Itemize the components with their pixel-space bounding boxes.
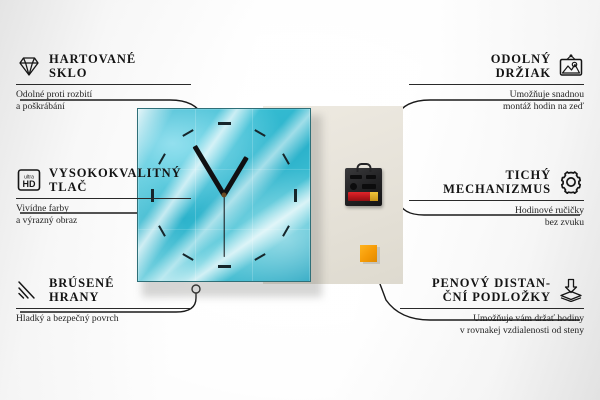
feature-divider bbox=[400, 308, 584, 309]
feature-sub-line1: Hodinové ručičky bbox=[409, 205, 584, 217]
feature-foam-spacers: PENOVÝ DISTAN- ČNÍ PODLOŽKY Umožňuje vám… bbox=[400, 276, 584, 336]
feature-title-line1: VYSOKOKVALITNÝ bbox=[49, 166, 182, 180]
clock-tick bbox=[218, 265, 231, 268]
feature-sub-line2: v rovnakej vzdialenosti od steny bbox=[400, 325, 584, 337]
movement-slot bbox=[366, 175, 376, 179]
feature-divider bbox=[409, 200, 584, 201]
brushed-edges-icon bbox=[16, 278, 42, 302]
feature-divider bbox=[16, 198, 191, 199]
foam-distance-pad bbox=[360, 245, 377, 262]
feature-sub-line1: Vivídne farby bbox=[16, 203, 191, 215]
feature-sub-line2: bez zvuku bbox=[409, 217, 584, 229]
infographic-canvas: HARTOVANÉ SKLO Odolné proti rozbití a po… bbox=[0, 0, 600, 400]
feature-sub-line1: Umožňuje vám držať hodiny bbox=[400, 313, 584, 325]
feature-title-line2: HRANY bbox=[49, 290, 114, 304]
feature-title-line1: HARTOVANÉ bbox=[49, 52, 136, 66]
ultra-hd-bottom-label: HD bbox=[23, 179, 36, 189]
feature-sub-line2: a výrazný obraz bbox=[16, 215, 191, 227]
feature-title-line2: DRŽIAK bbox=[491, 66, 551, 80]
feature-divider bbox=[409, 84, 584, 85]
feature-title-line2: ČNÍ PODLOŽKY bbox=[432, 290, 551, 304]
feature-title-line2: TLAČ bbox=[49, 180, 182, 194]
feature-silent-mechanism: TICHÝ MECHANIZMUS Hodinové ručičky bez z… bbox=[409, 168, 584, 228]
feature-high-quality-print: ultra HD VYSOKOKVALITNÝ TLAČ Vivídne far… bbox=[16, 166, 191, 226]
diamond-icon bbox=[16, 54, 42, 78]
clock-tick bbox=[294, 189, 297, 202]
feature-sub-line1: Umožňuje snadnou bbox=[409, 89, 584, 101]
picture-hanger-icon bbox=[558, 54, 584, 78]
feature-durable-hanger: ODOLNÝ DRŽIAK Umožňuje snadnou montáž ho… bbox=[409, 52, 584, 112]
feature-title-line1: PENOVÝ DISTAN- bbox=[432, 276, 551, 290]
feature-divider bbox=[16, 84, 191, 85]
feature-title-line1: TICHÝ bbox=[443, 168, 551, 182]
feature-title-line1: ODOLNÝ bbox=[491, 52, 551, 66]
gear-icon bbox=[558, 170, 584, 194]
clock-movement-mechanism bbox=[345, 168, 382, 206]
aa-battery bbox=[348, 192, 378, 201]
feature-sub-line1: Odolné proti rozbití bbox=[16, 89, 191, 101]
clock-center-pivot bbox=[222, 193, 227, 198]
feature-sub-line2: a poškrábání bbox=[16, 101, 191, 113]
foam-pad-press-icon bbox=[558, 278, 584, 302]
feature-title-line1: BRÚSENÉ bbox=[49, 276, 114, 290]
feature-title-line2: MECHANIZMUS bbox=[443, 182, 551, 196]
ultra-hd-badge-icon: ultra HD bbox=[16, 168, 42, 192]
clock-tick bbox=[218, 122, 231, 125]
movement-slot bbox=[350, 175, 362, 179]
feature-brushed-edges: BRÚSENÉ HRANY Hladký a bezpečný povrch bbox=[16, 276, 191, 325]
feature-sub-line1: Hladký a bezpečný povrch bbox=[16, 313, 191, 325]
feature-title-line2: SKLO bbox=[49, 66, 136, 80]
movement-dial bbox=[350, 183, 357, 190]
feature-sub-line2: montáž hodin na zeď bbox=[409, 101, 584, 113]
feature-tempered-glass: HARTOVANÉ SKLO Odolné proti rozbití a po… bbox=[16, 52, 191, 112]
movement-slot bbox=[362, 184, 376, 189]
feature-divider bbox=[16, 308, 191, 309]
movement-hanger-hook bbox=[356, 163, 371, 172]
clock-second-hand bbox=[223, 195, 224, 257]
battery-terminal bbox=[370, 192, 378, 201]
